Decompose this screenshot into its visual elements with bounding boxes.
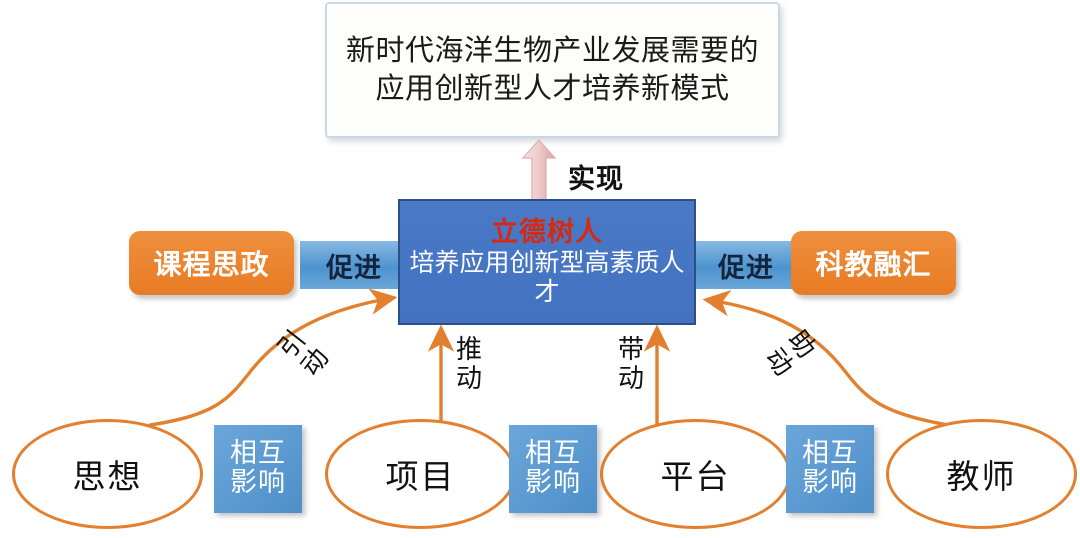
pillar-label-left: 课程思政 xyxy=(153,243,269,283)
foundation-label-teacher: 教师 xyxy=(947,450,1017,498)
connector-label-daidong: 带动 xyxy=(614,336,648,394)
mutual-line2-1: 影响 xyxy=(230,469,286,498)
diagram-canvas: 新时代海洋生物产业发展需要的应用创新型人才培养新模式 实现 促进 促进 课程思政… xyxy=(0,0,1080,538)
foundation-teacher[interactable]: 教师 xyxy=(886,419,1077,529)
foundation-label-thought: 思想 xyxy=(73,450,143,498)
promote-label-left: 促进 xyxy=(326,246,382,285)
core-subtitle: 培养应用创新型高素质人才 xyxy=(400,248,694,306)
mutual-line1-1: 相互 xyxy=(230,440,286,469)
connector-curve-teacher xyxy=(708,300,948,425)
mutual-line1-2: 相互 xyxy=(525,440,581,469)
mutual-line2-3: 影响 xyxy=(802,469,858,498)
promote-bar-left: 促进 xyxy=(300,241,408,289)
realize-label: 实现 xyxy=(568,157,624,196)
foundation-label-platform: 平台 xyxy=(661,450,731,498)
connector-curve-thought xyxy=(150,298,392,425)
realize-arrow-icon xyxy=(521,139,557,201)
goal-box: 新时代海洋生物产业发展需要的应用创新型人才培养新模式 xyxy=(325,2,780,138)
core-box[interactable]: 立德树人 培养应用创新型高素质人才 xyxy=(398,199,696,325)
pillar-label-right: 科教融汇 xyxy=(815,243,931,283)
pillar-science-education-integration[interactable]: 科教融汇 xyxy=(791,231,956,295)
core-title: 立德树人 xyxy=(491,218,603,247)
mutual-line2-2: 影响 xyxy=(525,469,581,498)
goal-text: 新时代海洋生物产业发展需要的应用创新型人才培养新模式 xyxy=(327,32,778,107)
mutual-influence-3: 相互 影响 xyxy=(786,425,874,513)
foundation-thought[interactable]: 思想 xyxy=(12,419,203,529)
foundation-platform[interactable]: 平台 xyxy=(600,419,791,529)
pillar-curriculum-ideology[interactable]: 课程思政 xyxy=(129,231,294,295)
connector-label-yindong: 引动 xyxy=(269,320,339,387)
connector-label-zhudong: 助动 xyxy=(755,320,825,387)
foundation-label-project: 项目 xyxy=(386,450,456,498)
mutual-influence-2: 相互 影响 xyxy=(509,425,597,513)
mutual-influence-1: 相互 影响 xyxy=(214,425,302,513)
promote-bar-right: 促进 xyxy=(692,241,800,289)
foundation-project[interactable]: 项目 xyxy=(325,419,516,529)
mutual-line1-3: 相互 xyxy=(802,440,858,469)
connector-label-tuidong: 推动 xyxy=(452,336,486,394)
promote-label-right: 促进 xyxy=(718,246,774,285)
